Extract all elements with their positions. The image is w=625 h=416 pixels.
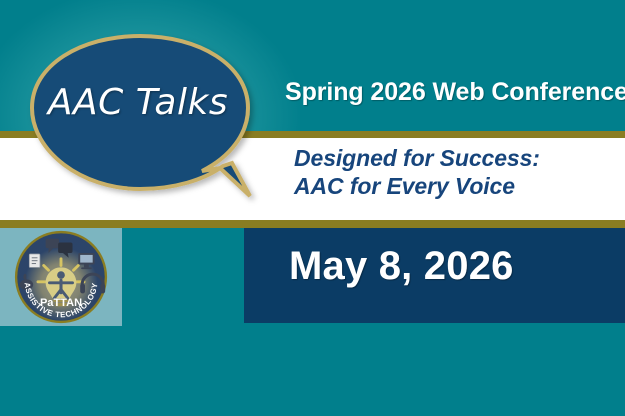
pattan-assistive-technology-logo: PaTTAN ASSISTIVE TECHNOLOGY bbox=[13, 229, 109, 325]
conference-subtitle: Designed for Success: AAC for Every Voic… bbox=[294, 144, 540, 200]
event-date: May 8, 2026 bbox=[289, 244, 514, 289]
gold-divider-bottom bbox=[0, 220, 625, 228]
pattan-logo-plate: PaTTAN ASSISTIVE TECHNOLOGY bbox=[0, 228, 122, 326]
brand-title: AAC Talks bbox=[24, 82, 252, 123]
speech-bubble: AAC Talks bbox=[24, 28, 269, 206]
conference-banner: Spring 2026 Web Conference Designed for … bbox=[0, 0, 625, 416]
subtitle-line-1: Designed for Success: bbox=[294, 144, 540, 172]
document-icon bbox=[29, 254, 40, 267]
conference-headline: Spring 2026 Web Conference bbox=[285, 78, 625, 107]
event-date-plate: May 8, 2026 bbox=[244, 228, 625, 323]
subtitle-line-2: AAC for Every Voice bbox=[294, 172, 540, 200]
